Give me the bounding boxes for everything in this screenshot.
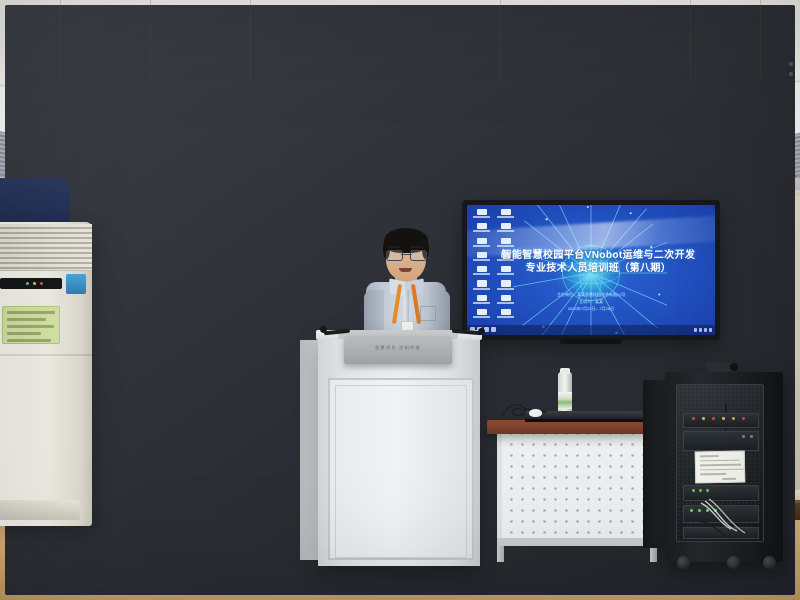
rack-unit-patch-panel[interactable] xyxy=(683,413,759,428)
glasses-icon xyxy=(386,250,427,259)
desktop-icon xyxy=(471,223,493,236)
ac-air-grille xyxy=(0,224,92,271)
slide-title-line-2: 专业技术人员培训班（第八期） xyxy=(487,262,710,275)
lectern-side xyxy=(300,340,320,560)
slide-subtitle-line-2: 主讲人：某某 xyxy=(497,299,685,305)
lectern-front-inner xyxy=(335,385,467,558)
computer-mouse[interactable] xyxy=(529,409,542,417)
rack-front-door[interactable] xyxy=(676,384,764,542)
floor-standing-air-conditioner[interactable] xyxy=(0,222,92,526)
slide-subtitle-line-3: 2024年7月22日—7月26日 xyxy=(497,306,685,312)
floor-plank-seam xyxy=(500,0,501,80)
desktop-icon xyxy=(495,223,517,236)
lectern-front-panel xyxy=(328,378,474,560)
rack-caster-left xyxy=(677,556,690,569)
ac-control-panel[interactable] xyxy=(0,278,62,289)
water-bottle-cap xyxy=(560,368,570,374)
center-panel-button-2[interactable] xyxy=(789,72,793,76)
microphone-left-head xyxy=(320,326,327,333)
slide-subtitle: 主办单位：某某智慧校园技术有限公司 主讲人：某某 2024年7月22日—7月26… xyxy=(497,291,685,313)
floor-plank-seam xyxy=(250,0,251,80)
taskbar-tray[interactable] xyxy=(694,328,712,332)
glasses-lens-left xyxy=(386,250,403,261)
eyebrow-right xyxy=(410,246,423,248)
rack-unit-amplifier[interactable] xyxy=(683,431,759,451)
rack-left-side-panel xyxy=(643,380,667,548)
desktop-icon xyxy=(471,209,493,222)
glasses-lens-right xyxy=(410,250,427,261)
floor-plank-seam xyxy=(760,0,761,80)
desktop-icon xyxy=(471,280,493,293)
desktop-icon xyxy=(471,295,493,308)
lectern-monitor-back[interactable]: 智慧讲台 控制终端 xyxy=(344,336,452,364)
mouth xyxy=(399,268,412,272)
microphone-right-head xyxy=(478,328,485,335)
ac-base-vent xyxy=(0,500,80,520)
side-desk[interactable] xyxy=(487,420,663,434)
water-bottle-label xyxy=(558,392,572,409)
desktop-icon xyxy=(495,209,517,222)
shirt-pocket xyxy=(420,306,436,321)
lectern-monitor-label: 智慧讲台 控制终端 xyxy=(344,345,452,351)
center-dark-panel xyxy=(0,0,100,140)
floor-plank-seam xyxy=(690,0,691,80)
center-panel-button-1[interactable] xyxy=(789,62,793,66)
rack-top-camera-icon xyxy=(705,362,733,372)
taskbar-app-icon[interactable] xyxy=(491,327,496,332)
rack-caster-right xyxy=(763,556,776,569)
desk-foot-rail xyxy=(497,538,657,546)
ac-notice-sticker xyxy=(2,306,60,344)
slide-title-line-1: 智能智慧校园平台VNobot运维与二次开发 xyxy=(487,249,710,262)
classroom-photo: 智能智慧校园平台VNobot运维与二次开发 专业技术人员培训班（第八期） 主办单… xyxy=(0,0,800,600)
floor-plank-seam xyxy=(60,0,61,80)
desk-perforated-panel xyxy=(497,434,665,538)
right-screen-taskbar[interactable] xyxy=(467,325,715,335)
right-screen-content: 智能智慧校园平台VNobot运维与二次开发 专业技术人员培训班（第八期） 主办单… xyxy=(467,205,715,335)
floor-plank-seam xyxy=(150,0,151,80)
lectern[interactable] xyxy=(318,334,480,566)
rack-notice-paper xyxy=(695,451,746,484)
slide-subtitle-line-1: 主办单位：某某智慧校园技术有限公司 xyxy=(497,292,685,298)
ac-energy-label xyxy=(66,274,86,294)
presenter xyxy=(368,228,444,346)
right-wall-display[interactable]: 智能智慧校园平台VNobot运维与二次开发 专业技术人员培训班（第八期） 主办单… xyxy=(462,200,720,340)
right-display-bottom-bar xyxy=(560,339,622,344)
av-equipment-rack[interactable] xyxy=(665,372,783,562)
rack-caster-center xyxy=(727,556,740,569)
slide-title: 智能智慧校园平台VNobot运维与二次开发 专业技术人员培训班（第八期） xyxy=(487,249,710,275)
desktop-icon xyxy=(471,309,493,322)
ac-body-seam xyxy=(0,354,92,356)
eyebrow-left xyxy=(388,246,401,248)
rack-cable-bundle xyxy=(697,497,759,541)
